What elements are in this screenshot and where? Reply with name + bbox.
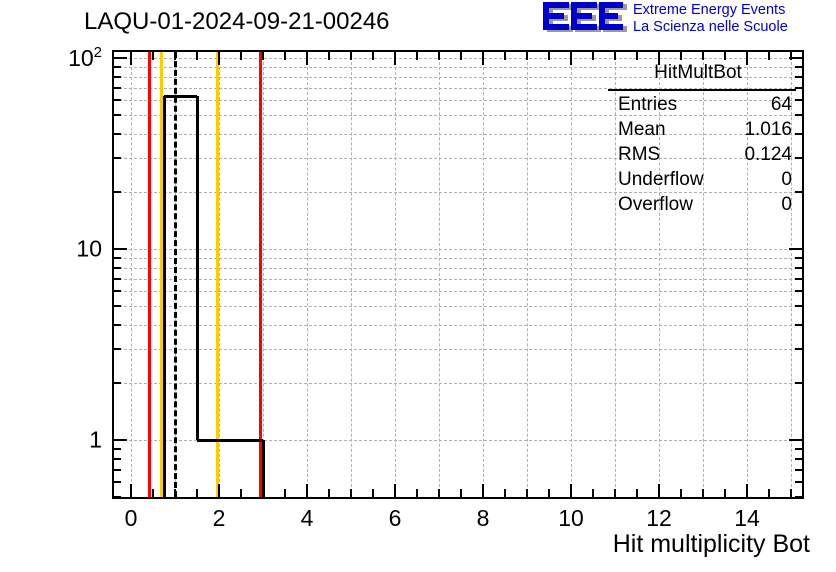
y-tick-minor (114, 87, 121, 89)
y-tick-minor (114, 257, 121, 259)
x-tick-top (570, 52, 572, 65)
x-tick-minor (262, 489, 264, 497)
x-tick-minor (504, 489, 506, 497)
y-tick-major (114, 248, 127, 250)
x-tick-top (350, 52, 352, 60)
x-tick-minor (240, 489, 242, 497)
x-tick-label: 4 (301, 505, 314, 532)
x-tick-top (306, 52, 308, 65)
x-tick-major (746, 484, 748, 497)
y-tick-right (795, 66, 802, 68)
x-tick-minor (680, 489, 682, 497)
x-tick-top (768, 52, 770, 60)
y-tick-major (114, 57, 127, 59)
x-tick-top (636, 52, 638, 60)
y-tick-right (795, 469, 802, 471)
x-tick-minor (416, 489, 418, 497)
x-tick-top (152, 52, 154, 60)
stats-value: 1.016 (744, 119, 792, 141)
x-tick-top (416, 52, 418, 60)
x-tick-major (658, 484, 660, 497)
y-tick-minor (114, 99, 121, 101)
stats-divider (608, 89, 796, 91)
stats-row: Overflow0 (610, 194, 796, 219)
eee-logo-line1: Extreme Energy Events (633, 2, 833, 19)
x-tick-label: 6 (389, 505, 402, 532)
root-canvas: LAQU-01-2024-09-21-00246 (0, 0, 836, 572)
stats-value: 0.124 (744, 144, 792, 166)
x-tick-top (218, 52, 220, 65)
x-tick-minor (592, 489, 594, 497)
y-tick-label: 10 (30, 236, 102, 263)
x-tick-top (526, 52, 528, 60)
x-tick-top (262, 52, 264, 60)
y-tick-minor (114, 348, 121, 350)
stats-value: 64 (771, 94, 792, 116)
y-tick-right (795, 458, 802, 460)
stats-row: Entries64 (610, 94, 796, 119)
x-tick-top (284, 52, 286, 60)
x-tick-label: 10 (558, 505, 584, 532)
y-tick-minor (114, 278, 121, 280)
x-tick-minor (152, 489, 154, 497)
x-tick-minor (284, 489, 286, 497)
y-tick-minor (114, 324, 121, 326)
eee-logo-icon (541, 2, 627, 34)
x-tick-label: 0 (125, 505, 138, 532)
x-tick-top (724, 52, 726, 60)
y-tick-minor (114, 382, 121, 384)
x-tick-label: 2 (213, 505, 226, 532)
x-tick-major (570, 484, 572, 497)
x-tick-minor (372, 489, 374, 497)
stats-key: Overflow (618, 194, 693, 216)
y-tick-right (795, 257, 802, 259)
x-tick-minor (350, 489, 352, 497)
y-tick-right (795, 496, 802, 498)
x-tick-top (548, 52, 550, 60)
eee-logo-text: Extreme Energy Events La Scienza nelle S… (633, 2, 833, 36)
y-tick-minor (114, 469, 121, 471)
x-tick-top (702, 52, 704, 60)
x-tick-major (130, 484, 132, 497)
stats-key: RMS (618, 144, 660, 166)
eee-logo-line2: La Scienza nelle Scuole (633, 19, 833, 36)
x-tick-minor (702, 489, 704, 497)
y-tick-right (795, 157, 802, 159)
x-tick-top (328, 52, 330, 60)
y-tick-right (795, 481, 802, 483)
y-tick-minor (114, 448, 121, 450)
x-tick-major (482, 484, 484, 497)
y-tick-minor (114, 305, 121, 307)
y-tick-minor (114, 290, 121, 292)
stats-key: Entries (618, 94, 677, 116)
y-tick-right (795, 290, 802, 292)
x-tick-top (482, 52, 484, 65)
x-tick-major (306, 484, 308, 497)
y-tick-right (795, 278, 802, 280)
x-tick-minor (460, 489, 462, 497)
stats-key: Underflow (618, 169, 704, 191)
y-tick-right (795, 324, 802, 326)
y-tick-minor (114, 481, 121, 483)
y-tick-minor (114, 76, 121, 78)
x-tick-top (438, 52, 440, 60)
x-tick-top (372, 52, 374, 60)
y-tick-right (795, 267, 802, 269)
y-tick-major (114, 439, 127, 441)
y-tick-right (795, 448, 802, 450)
y-tick-right (789, 57, 802, 59)
x-tick-minor (196, 489, 198, 497)
x-tick-top (592, 52, 594, 60)
y-tick-right (795, 305, 802, 307)
x-tick-label: 14 (734, 505, 760, 532)
y-tick-minor (114, 114, 121, 116)
x-tick-label: 8 (477, 505, 490, 532)
y-tick-label: 102 (30, 44, 102, 72)
y-tick-right (795, 133, 802, 135)
y-tick-right (795, 191, 802, 193)
stats-row: Underflow0 (610, 169, 796, 194)
x-tick-top (394, 52, 396, 65)
x-tick-minor (174, 489, 176, 497)
y-tick-minor (114, 133, 121, 135)
x-tick-minor (328, 489, 330, 497)
x-tick-minor (526, 489, 528, 497)
eee-logo: Extreme Energy Events La Scienza nelle S… (541, 2, 833, 36)
x-tick-minor (768, 489, 770, 497)
x-tick-minor (724, 489, 726, 497)
y-tick-minor (114, 157, 121, 159)
page-title: LAQU-01-2024-09-21-00246 (84, 8, 390, 36)
y-tick-right (795, 114, 802, 116)
stats-row: Mean1.016 (610, 119, 796, 144)
x-tick-minor (438, 489, 440, 497)
y-tick-minor (114, 267, 121, 269)
x-tick-top (680, 52, 682, 60)
y-tick-minor (114, 66, 121, 68)
y-tick-minor (114, 191, 121, 193)
x-tick-top (130, 52, 132, 65)
stats-key: Mean (618, 119, 666, 141)
y-tick-minor (114, 496, 121, 498)
stats-value: 0 (781, 169, 792, 191)
y-tick-minor (114, 458, 121, 460)
x-tick-minor (614, 489, 616, 497)
stats-box: HitMultBot Entries64Mean1.016RMS0.124Und… (600, 62, 796, 212)
x-tick-major (394, 484, 396, 497)
y-tick-right (795, 87, 802, 89)
x-axis-title: Hit multiplicity Bot (613, 530, 810, 559)
x-tick-top (196, 52, 198, 60)
y-tick-right (795, 76, 802, 78)
x-tick-top (460, 52, 462, 60)
x-tick-top (174, 52, 176, 60)
y-tick-right (795, 99, 802, 101)
x-tick-major (218, 484, 220, 497)
y-tick-right (789, 439, 802, 441)
y-tick-right (795, 348, 802, 350)
y-tick-right (795, 382, 802, 384)
x-tick-label: 12 (646, 505, 672, 532)
y-tick-label: 1 (30, 427, 102, 454)
x-tick-minor (548, 489, 550, 497)
stats-row: RMS0.124 (610, 144, 796, 169)
x-tick-top (504, 52, 506, 60)
x-tick-top (614, 52, 616, 60)
stats-value: 0 (781, 194, 792, 216)
x-tick-minor (790, 489, 792, 497)
x-tick-top (240, 52, 242, 60)
y-tick-right (789, 248, 802, 250)
x-tick-minor (636, 489, 638, 497)
stats-title: HitMultBot (600, 62, 796, 84)
